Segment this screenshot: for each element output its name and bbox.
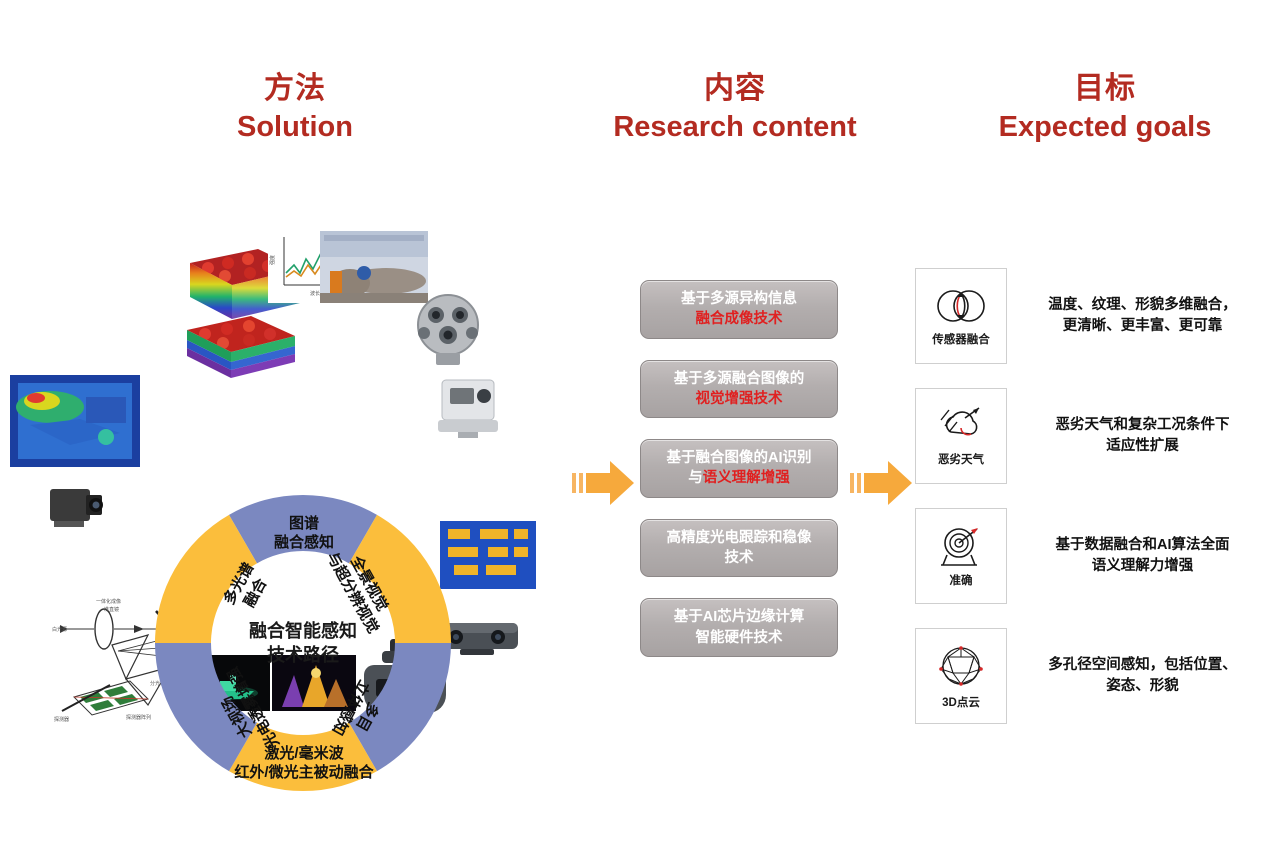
goal-row-accurate: 准确 基于数据融合和AI算法全面 语义理解力增强 [915, 508, 1260, 604]
goal-row-bad-weather: 恶劣天气 恶劣天气和复杂工况条件下 适应性扩展 [915, 388, 1260, 484]
header-goals-cn: 目标 [955, 72, 1255, 107]
goal-icon-label-1: 传感器融合 [932, 331, 990, 347]
column-header-content: 内容 Research content [560, 72, 910, 144]
goal-text-2-line2: 适应性扩展 [1025, 436, 1260, 457]
goal-text-2: 恶劣天气和复杂工况条件下 适应性扩展 [1007, 415, 1260, 457]
goal-text-3: 基于数据融合和AI算法全面 语义理解力增强 [1007, 535, 1260, 577]
svg-text:准直镜: 准直镜 [104, 606, 119, 613]
goal-text-2-line1: 恶劣天气和复杂工况条件下 [1025, 415, 1260, 436]
optical-instrument-image [428, 370, 508, 442]
expected-goals-column: 传感器融合 温度、纹理、形貌多维融合， 更清晰、更丰富、更可靠 [915, 268, 1260, 748]
svg-text:强度: 强度 [269, 255, 276, 265]
content-box-3-highlight: 语义理解增强 [703, 470, 790, 486]
header-content-cn: 内容 [560, 72, 910, 107]
header-goals-en: Expected goals [955, 111, 1255, 144]
content-box-1-highlight: 融合成像技术 [696, 311, 783, 327]
svg-text:波长: 波长 [310, 290, 320, 297]
goal-icon-box-2[interactable]: 恶劣天气 [915, 388, 1007, 484]
goal-text-3-line1: 基于数据融合和AI算法全面 [1025, 535, 1260, 556]
goal-text-3-line2: 语义理解力增强 [1025, 556, 1260, 577]
goal-text-1-line1: 温度、纹理、形貌多维融合， [1025, 295, 1260, 316]
content-box-2[interactable]: 基于多源融合图像的 视觉增强技术 [640, 360, 838, 419]
goal-icon-label-3: 准确 [950, 572, 973, 588]
goal-icon-box-3[interactable]: 准确 [915, 508, 1007, 604]
goal-text-1-line2: 更清晰、更丰富、更可靠 [1025, 316, 1260, 337]
svg-text:探测器阵列: 探测器阵列 [126, 714, 151, 721]
multi-lens-sphere-camera-image [402, 285, 494, 371]
svg-text:一体化成像: 一体化成像 [96, 598, 121, 605]
content-box-2-highlight: 视觉增强技术 [696, 391, 783, 407]
column-header-goals: 目标 Expected goals [955, 72, 1255, 144]
header-content-en: Research content [560, 111, 910, 144]
thermal-infrared-image [10, 375, 140, 467]
content-box-4-line2: 技术 [667, 548, 812, 568]
svg-text:白光源: 白光源 [52, 626, 67, 633]
goal-row-point-cloud: 3D点云 多孔径空间感知，包括位置、 姿态、形貌 [915, 628, 1260, 724]
goal-text-4-line2: 姿态、形貌 [1025, 676, 1260, 697]
content-box-2-line1: 基于多源融合图像的 [674, 369, 805, 389]
point-cloud-icon [933, 643, 989, 689]
goal-icon-box-1[interactable]: 传感器融合 [915, 268, 1007, 364]
content-box-3-line1: 基于融合图像的AI识别 [667, 448, 812, 468]
content-box-4[interactable]: 高精度光电跟踪和稳像 技术 [640, 519, 838, 578]
svg-text:探测器: 探测器 [54, 716, 69, 723]
content-box-4-line1: 高精度光电跟踪和稳像 [667, 528, 812, 548]
hyperspectral-cube-left-image [175, 310, 305, 382]
bad-weather-icon [931, 406, 991, 446]
goal-text-1: 温度、纹理、形貌多维融合， 更清晰、更丰富、更可靠 [1007, 295, 1260, 337]
goal-icon-label-4: 3D点云 [942, 694, 980, 710]
content-box-5[interactable]: 基于AI芯片边缘计算 智能硬件技术 [640, 598, 838, 657]
goal-icon-box-4[interactable]: 3D点云 [915, 628, 1007, 724]
content-box-1-line1: 基于多源异构信息 [681, 289, 797, 309]
header-solution-en: Solution [150, 111, 440, 144]
diagram-canvas: 方法 Solution 内容 Research content 目标 Expec… [0, 0, 1268, 866]
content-box-1[interactable]: 基于多源异构信息 融合成像技术 [640, 280, 838, 339]
content-box-5-line2: 智能硬件技术 [674, 628, 805, 648]
arrow-content-to-goals [850, 455, 914, 511]
goal-row-sensor-fusion: 传感器融合 温度、纹理、形貌多维融合， 更清晰、更丰富、更可靠 [915, 268, 1260, 364]
pcb-circuit-image [440, 515, 536, 595]
research-content-column: 基于多源异构信息 融合成像技术 基于多源融合图像的 视觉增强技术 基于融合图像的… [640, 280, 840, 678]
goal-text-4-line1: 多孔径空间感知，包括位置、 [1025, 655, 1260, 676]
industrial-camera-image [40, 473, 112, 535]
header-solution-cn: 方法 [150, 72, 440, 107]
goal-icon-label-2: 恶劣天气 [938, 451, 984, 467]
arrow-solution-to-content [572, 455, 636, 511]
target-icon [931, 525, 991, 567]
sensor-fusion-icon [931, 286, 991, 326]
content-box-5-line1: 基于AI芯片边缘计算 [674, 607, 805, 627]
content-box-3[interactable]: 基于融合图像的AI识别 与语义理解增强 [640, 439, 838, 498]
column-header-solution: 方法 Solution [150, 72, 440, 144]
content-box-3-prefix: 与 [688, 470, 703, 486]
solution-wheel-area: 强度 波长 [10, 215, 550, 735]
goal-text-4: 多孔径空间感知，包括位置、 姿态、形貌 [1007, 655, 1260, 697]
